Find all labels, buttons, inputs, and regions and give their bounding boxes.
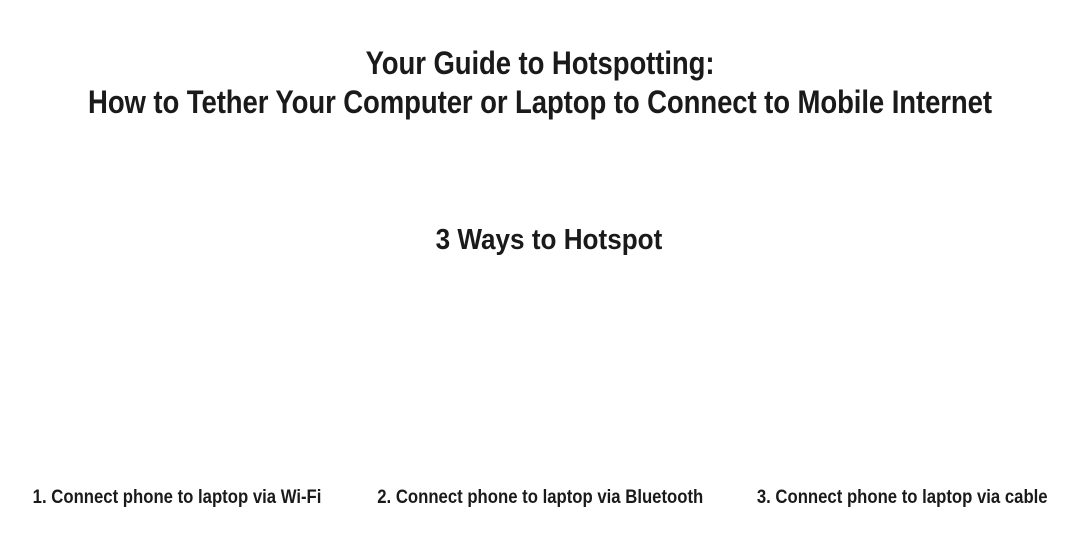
section-heading-label: 3 Ways to Hotspot xyxy=(436,222,663,258)
page-title-line-2: How to Tether Your Computer or Laptop to… xyxy=(76,83,1005,122)
illustration-bluetooth-tether xyxy=(360,282,720,478)
method-caption-1: 1. Connect phone to laptop via Wi-Fi xyxy=(33,486,322,510)
method-item-2: 2. Connect phone to laptop via Bluetooth xyxy=(355,486,726,510)
page-title-line-1: Your Guide to Hotspotting: xyxy=(76,44,1005,83)
section-heading: 3 Ways to Hotspot xyxy=(0,222,1080,258)
method-item-3: 3. Connect phone to laptop via cable xyxy=(725,486,1080,510)
illustration-cable-tether xyxy=(720,282,1080,478)
illustration-row xyxy=(0,282,1080,478)
caption-row: 1. Connect phone to laptop via Wi-Fi 2. … xyxy=(0,486,1080,510)
method-caption-2: 2. Connect phone to laptop via Bluetooth xyxy=(377,486,703,510)
illustration-wifi-tether xyxy=(0,282,360,478)
method-item-1: 1. Connect phone to laptop via Wi-Fi xyxy=(0,486,355,510)
article-page: Your Guide to Hotspotting: How to Tether… xyxy=(0,0,1080,552)
page-title: Your Guide to Hotspotting: How to Tether… xyxy=(0,44,1080,122)
method-caption-3: 3. Connect phone to laptop via cable xyxy=(757,486,1048,510)
